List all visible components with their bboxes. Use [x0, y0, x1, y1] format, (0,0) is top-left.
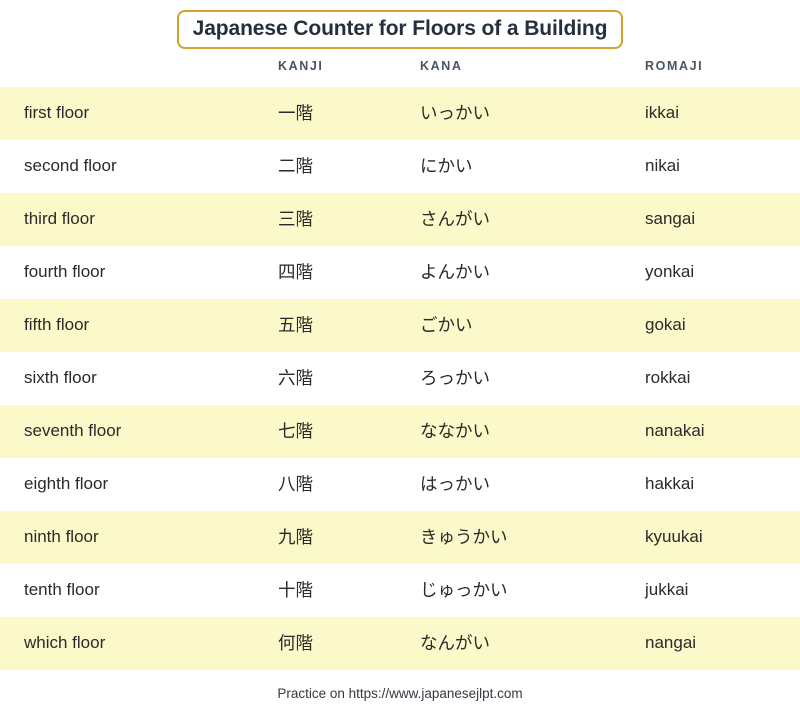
- cell-romaji: nikai: [645, 140, 800, 193]
- cell-romaji: nangai: [645, 617, 800, 670]
- cell-romaji: ikkai: [645, 87, 800, 140]
- table-row: first floor一階いっかいikkai: [0, 87, 800, 140]
- cell-kana: ななかい: [420, 405, 645, 458]
- cell-romaji: nanakai: [645, 405, 800, 458]
- cell-kana: にかい: [420, 140, 645, 193]
- cell-kana: いっかい: [420, 87, 645, 140]
- column-header-romaji: ROMAJI: [645, 59, 800, 87]
- cell-kana: はっかい: [420, 458, 645, 511]
- cell-kana: きゅうかい: [420, 511, 645, 564]
- column-header-english: [0, 59, 278, 87]
- table-row: third floor三階さんがいsangai: [0, 193, 800, 246]
- cell-english: second floor: [0, 140, 278, 193]
- counter-table-page: Japanese Counter for Floors of a Buildin…: [0, 0, 800, 717]
- column-header-kana: KANA: [420, 59, 645, 87]
- footer-practice-note: Practice on https://www.japanesejlpt.com: [277, 686, 522, 701]
- cell-kanji: 何階: [278, 617, 420, 670]
- cell-english: eighth floor: [0, 458, 278, 511]
- table-row: second floor二階にかいnikai: [0, 140, 800, 193]
- cell-romaji: sangai: [645, 193, 800, 246]
- cell-kana: ろっかい: [420, 352, 645, 405]
- cell-kanji: 九階: [278, 511, 420, 564]
- cell-kanji: 七階: [278, 405, 420, 458]
- cell-english: tenth floor: [0, 564, 278, 617]
- cell-english: sixth floor: [0, 352, 278, 405]
- table-body: first floor一階いっかいikkaisecond floor二階にかいn…: [0, 87, 800, 670]
- cell-kanji: 五階: [278, 299, 420, 352]
- cell-kanji: 六階: [278, 352, 420, 405]
- page-title: Japanese Counter for Floors of a Buildin…: [193, 17, 608, 40]
- cell-romaji: kyuukai: [645, 511, 800, 564]
- table-row: ninth floor九階きゅうかいkyuukai: [0, 511, 800, 564]
- cell-kanji: 一階: [278, 87, 420, 140]
- table-row: eighth floor八階はっかいhakkai: [0, 458, 800, 511]
- cell-english: fourth floor: [0, 246, 278, 299]
- cell-kana: なんがい: [420, 617, 645, 670]
- cell-kana: じゅっかい: [420, 564, 645, 617]
- cell-kanji: 十階: [278, 564, 420, 617]
- table-row: tenth floor十階じゅっかいjukkai: [0, 564, 800, 617]
- cell-english: ninth floor: [0, 511, 278, 564]
- cell-romaji: gokai: [645, 299, 800, 352]
- cell-romaji: hakkai: [645, 458, 800, 511]
- footer: Practice on https://www.japanesejlpt.com: [0, 670, 800, 717]
- table-header-row: KANJI KANA ROMAJI: [0, 59, 800, 87]
- cell-kana: よんかい: [420, 246, 645, 299]
- cell-kanji: 八階: [278, 458, 420, 511]
- cell-romaji: rokkai: [645, 352, 800, 405]
- cell-english: first floor: [0, 87, 278, 140]
- table-row: fifth floor五階ごかいgokai: [0, 299, 800, 352]
- cell-romaji: yonkai: [645, 246, 800, 299]
- cell-english: fifth floor: [0, 299, 278, 352]
- cell-romaji: jukkai: [645, 564, 800, 617]
- table-row: sixth floor六階ろっかいrokkai: [0, 352, 800, 405]
- counter-table: KANJI KANA ROMAJI first floor一階いっかいikkai…: [0, 59, 800, 670]
- table-row: seventh floor七階ななかいnanakai: [0, 405, 800, 458]
- cell-english: seventh floor: [0, 405, 278, 458]
- cell-english: which floor: [0, 617, 278, 670]
- cell-kanji: 四階: [278, 246, 420, 299]
- table-row: which floor何階なんがいnangai: [0, 617, 800, 670]
- table-row: fourth floor四階よんかいyonkai: [0, 246, 800, 299]
- title-box: Japanese Counter for Floors of a Buildin…: [177, 10, 624, 49]
- title-container: Japanese Counter for Floors of a Buildin…: [0, 0, 800, 59]
- cell-english: third floor: [0, 193, 278, 246]
- cell-kanji: 三階: [278, 193, 420, 246]
- column-header-kanji: KANJI: [278, 59, 420, 87]
- cell-kanji: 二階: [278, 140, 420, 193]
- cell-kana: ごかい: [420, 299, 645, 352]
- cell-kana: さんがい: [420, 193, 645, 246]
- table-header: KANJI KANA ROMAJI: [0, 59, 800, 87]
